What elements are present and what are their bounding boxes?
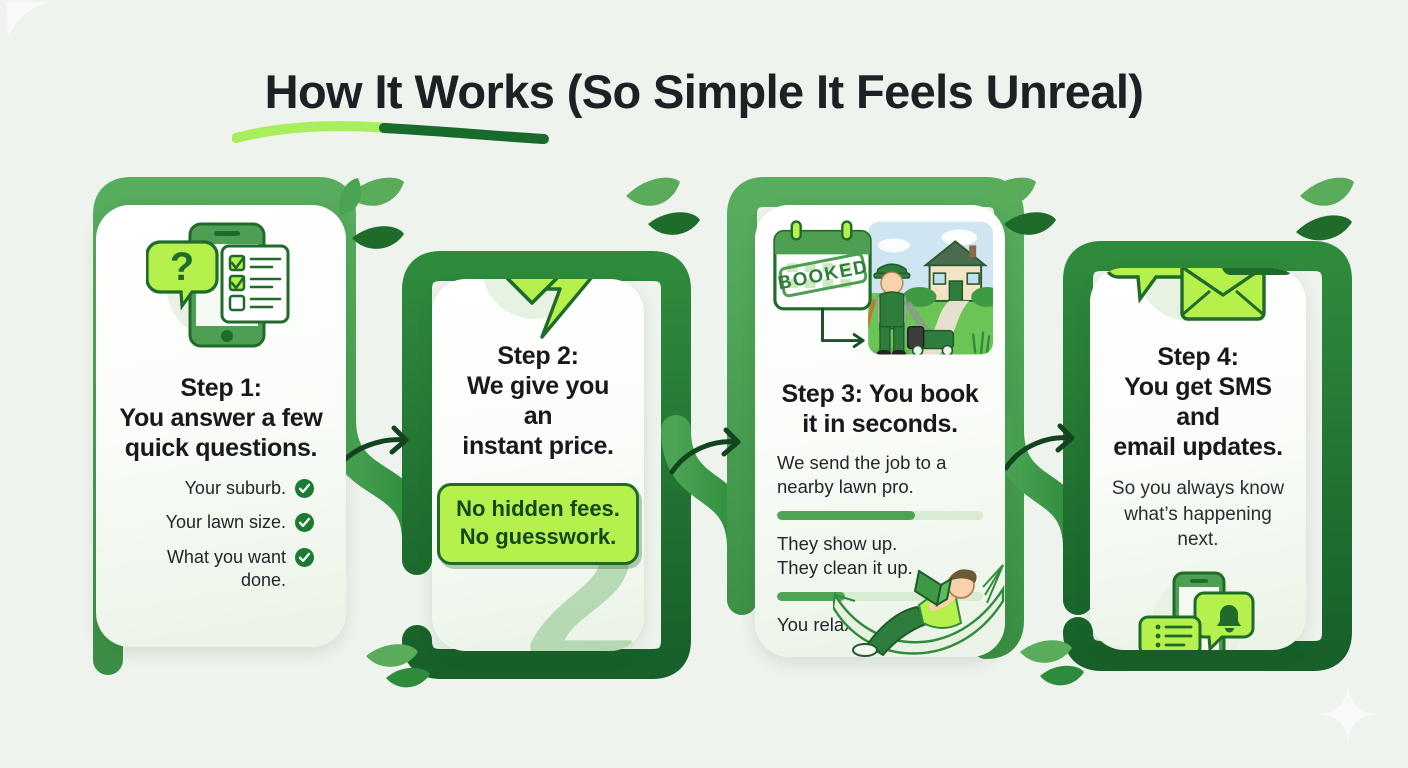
step-subtext-4: So you always know what’s happening next… bbox=[1108, 476, 1288, 553]
step-heading-4: Step 4: You get SMS and email updates. bbox=[1108, 342, 1288, 462]
step-card-4[interactable]: SMS UPDATE Step 4: You get SMS and email… bbox=[1090, 268, 1306, 650]
step-heading-line: quick questions. bbox=[119, 433, 322, 463]
highlight-callout-box: No hidden fees. No guesswork. bbox=[437, 483, 639, 565]
step-heading-line: We give you an bbox=[450, 371, 626, 431]
checklist-label: What you want done. bbox=[150, 546, 286, 593]
progress-fill bbox=[777, 511, 915, 520]
step-heading-line: You answer a few bbox=[119, 403, 322, 433]
check-circle-icon bbox=[295, 479, 314, 498]
checklist: Your suburb. Your lawn size. What you wa… bbox=[114, 477, 328, 604]
highlight-line-1: No hidden fees. bbox=[456, 495, 620, 523]
step-card-1[interactable]: ? Step 1: You answer a few quick questio… bbox=[96, 205, 346, 647]
progress-bar-1 bbox=[777, 511, 983, 520]
step-heading-line: Step 1: bbox=[119, 373, 322, 403]
subtext-line: what’s happening next. bbox=[1108, 502, 1288, 553]
step-card-3[interactable]: BOOKED Step 3: You book it in seconds. W… bbox=[755, 205, 1005, 657]
step-heading-line: email updates. bbox=[1108, 432, 1288, 462]
list-item[interactable]: What you want done. bbox=[128, 546, 314, 593]
highlight-line-2: No guesswork. bbox=[456, 523, 620, 551]
svg-text:?: ? bbox=[170, 245, 194, 289]
step-heading-2: Step 2: We give you an instant price. bbox=[450, 341, 626, 461]
step-heading-line: Step 4: bbox=[1108, 342, 1288, 372]
check-circle-icon bbox=[295, 548, 314, 567]
step-heading-line: it in seconds. bbox=[781, 409, 978, 439]
checklist-label: Your lawn size. bbox=[166, 511, 286, 534]
checklist-label: Your suburb. bbox=[185, 477, 286, 500]
list-item[interactable]: Your lawn size. bbox=[128, 511, 314, 534]
step-card-2[interactable]: 2 $ Step 2: We g bbox=[432, 279, 644, 651]
price-tag-dollar-bolt-icon: $ bbox=[468, 279, 608, 323]
calendar-booked-lawn-pro-icon: BOOKED bbox=[765, 215, 995, 367]
subtext-line: So you always know bbox=[1108, 476, 1288, 502]
infographic-canvas: How It Works (So Simple It Feels Unreal) bbox=[0, 0, 1408, 768]
step-heading-line: instant price. bbox=[450, 431, 626, 461]
step-heading-1: Step 1: You answer a few quick questions… bbox=[119, 373, 322, 463]
step-heading-line: You get SMS and bbox=[1108, 372, 1288, 432]
body-text: We send the job to a nearby lawn pro. bbox=[777, 451, 983, 500]
phone-notification-bell-icon bbox=[1134, 567, 1262, 650]
person-in-hammock-reading-icon bbox=[833, 545, 1005, 657]
check-circle-icon bbox=[295, 513, 314, 532]
update-badge-text: UPDATE bbox=[1225, 268, 1292, 271]
sms-bubble-envelope-update-icon: SMS UPDATE bbox=[1098, 268, 1298, 322]
step-heading-line: Step 3: You book bbox=[781, 379, 978, 409]
list-item[interactable]: Your suburb. bbox=[128, 477, 314, 500]
phone-checklist-question-icon: ? bbox=[146, 217, 296, 355]
step-heading-3: Step 3: You book it in seconds. bbox=[781, 379, 978, 439]
